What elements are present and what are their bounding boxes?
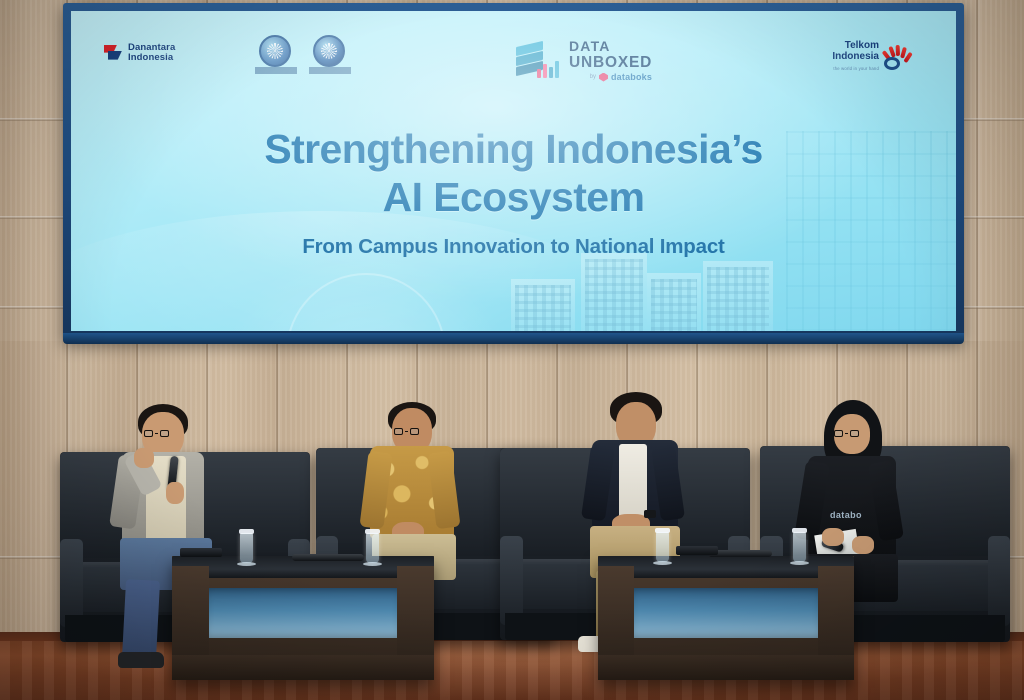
telkom-indonesia-logo: Telkom Indonesia the world in your hand — [832, 41, 908, 75]
data-unboxed-logo: DATA UNBOXED by databoks — [516, 39, 652, 82]
screen-bottom-bezel — [63, 333, 964, 344]
eyeglasses-icon — [394, 428, 419, 435]
unboxed-by-label: by — [590, 74, 596, 80]
slide-title-line2: AI Ecosystem — [71, 173, 956, 221]
water-glass — [366, 533, 379, 563]
unboxed-line2: UNBOXED — [569, 55, 652, 71]
slide-logo-row: Danantara Indonesia — [71, 27, 956, 85]
telkom-line2: Indonesia — [832, 52, 879, 63]
right-hand — [852, 536, 874, 554]
danantara-line2: Indonesia — [128, 53, 175, 63]
water-glass — [656, 532, 669, 562]
shoe — [118, 652, 164, 668]
slide-building-2 — [647, 273, 701, 331]
mobile-phone — [676, 546, 718, 555]
mobile-phone — [180, 548, 222, 557]
slide-building-1 — [581, 253, 647, 331]
jeans-lower-leg — [122, 579, 160, 661]
slide-building-4 — [511, 279, 575, 331]
danantara-indonesia-logo: Danantara Indonesia — [104, 43, 175, 62]
slide-title-line1: Strengthening Indonesia’s — [71, 125, 956, 173]
eyeglasses-icon — [144, 430, 169, 437]
water-glass — [793, 532, 806, 562]
mic-holding-hand — [166, 482, 184, 504]
seal-right-caption — [309, 67, 351, 74]
telkom-tagline: the world in your hand — [832, 64, 879, 75]
eyeglasses-icon — [834, 430, 859, 437]
slide-surface: Danantara Indonesia — [71, 11, 956, 331]
presentation-screen: Danantara Indonesia — [63, 3, 964, 341]
gesturing-hand — [134, 448, 154, 468]
unboxed-line1: DATA — [569, 39, 652, 53]
water-glass — [240, 533, 253, 563]
slide-building-3 — [703, 261, 773, 331]
telkom-hand-icon — [884, 46, 908, 70]
danantara-mark-icon — [104, 45, 123, 61]
table-microphone — [292, 554, 364, 561]
unboxed-box-chart-icon — [516, 40, 560, 80]
databoks-mark-icon — [599, 73, 608, 82]
university-seal-left-icon — [259, 35, 293, 69]
left-hand — [822, 528, 844, 546]
dark-wood-coffee-table — [172, 556, 434, 680]
slide-subtitle: From Campus Innovation to National Impac… — [71, 235, 956, 259]
telkom-line1: Telkom — [832, 41, 879, 52]
conference-photo: Danantara Indonesia — [0, 0, 1024, 700]
tshirt-brand-text: databo — [830, 510, 862, 520]
seal-left-caption — [255, 67, 297, 74]
wristwatch — [644, 510, 656, 518]
databoks-brand: databoks — [611, 73, 652, 82]
slide-title: Strengthening Indonesia’s AI Ecosystem — [71, 125, 956, 221]
dark-wood-coffee-table — [598, 556, 854, 680]
institution-seal-right-icon — [313, 35, 347, 69]
